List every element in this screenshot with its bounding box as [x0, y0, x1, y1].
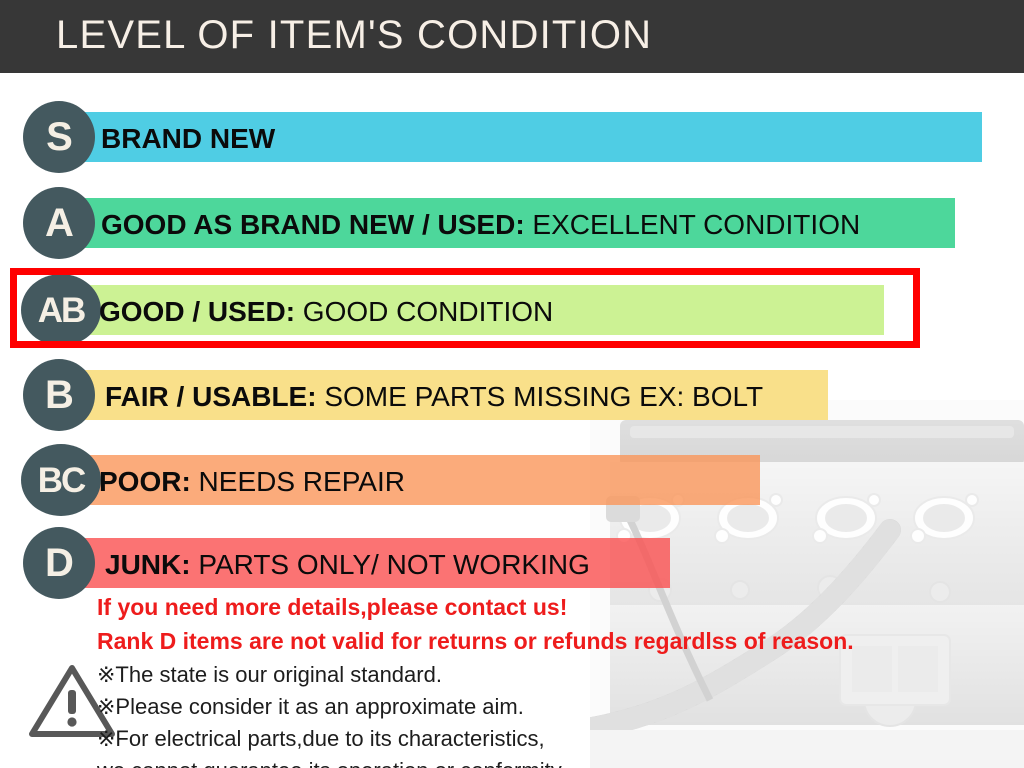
page-title: LEVEL OF ITEM'S CONDITION	[56, 13, 652, 58]
rank-badge-label: B	[45, 375, 73, 415]
rank-label-bold: GOOD / USED:	[99, 296, 295, 327]
rank-label-bold: JUNK:	[105, 549, 191, 580]
rank-label-ab: GOOD / USED: GOOD CONDITION	[99, 298, 553, 326]
rank-badge-ab: AB	[21, 274, 101, 346]
rank-label-normal: GOOD CONDITION	[295, 296, 553, 327]
rank-label-bc: POOR: NEEDS REPAIR	[99, 468, 405, 496]
rank-badge-b: B	[23, 359, 95, 431]
condition-grade-chart: LEVEL OF ITEM'S CONDITION S BRAND NEW A …	[0, 0, 1024, 768]
rank-badge-bc: BC	[21, 444, 101, 516]
rank-badge-label: D	[45, 543, 73, 583]
rank-badge-label: S	[46, 117, 72, 157]
rank-label-bold: POOR:	[99, 466, 191, 497]
note-dark-line-3: ※For electrical parts,due to its charact…	[97, 728, 545, 750]
note-dark-line-2: ※Please consider it as an approximate ai…	[97, 696, 524, 718]
rank-badge-d: D	[23, 527, 95, 599]
note-dark-line-4: we cannot guarantee its operation or con…	[97, 760, 566, 768]
rank-label-a: GOOD AS BRAND NEW / USED: EXCELLENT COND…	[101, 211, 860, 239]
note-red-line-2: Rank D items are not valid for returns o…	[97, 630, 854, 653]
rank-badge-a: A	[23, 187, 95, 259]
note-red-line-1: If you need more details,please contact …	[97, 596, 567, 619]
rank-label-bold: BRAND NEW	[101, 123, 275, 154]
rank-badge-label: BC	[38, 463, 85, 498]
rank-label-normal: NEEDS REPAIR	[191, 466, 405, 497]
rank-badge-label: AB	[38, 293, 85, 328]
rank-label-bold: FAIR / USABLE:	[105, 381, 317, 412]
rank-label-s: BRAND NEW	[101, 125, 275, 153]
rank-badge-label: A	[45, 203, 73, 243]
rank-label-normal: PARTS ONLY/ NOT WORKING	[191, 549, 590, 580]
rank-label-normal: EXCELLENT CONDITION	[525, 209, 861, 240]
rank-label-bold: GOOD AS BRAND NEW / USED:	[101, 209, 525, 240]
rank-badge-s: S	[23, 101, 95, 173]
rank-label-normal: SOME PARTS MISSING EX: BOLT	[317, 381, 764, 412]
note-dark-line-1: ※The state is our original standard.	[97, 664, 442, 686]
header-bar: LEVEL OF ITEM'S CONDITION	[0, 0, 1024, 73]
rank-label-d: JUNK: PARTS ONLY/ NOT WORKING	[105, 551, 590, 579]
rank-label-b: FAIR / USABLE: SOME PARTS MISSING EX: BO…	[105, 383, 763, 411]
